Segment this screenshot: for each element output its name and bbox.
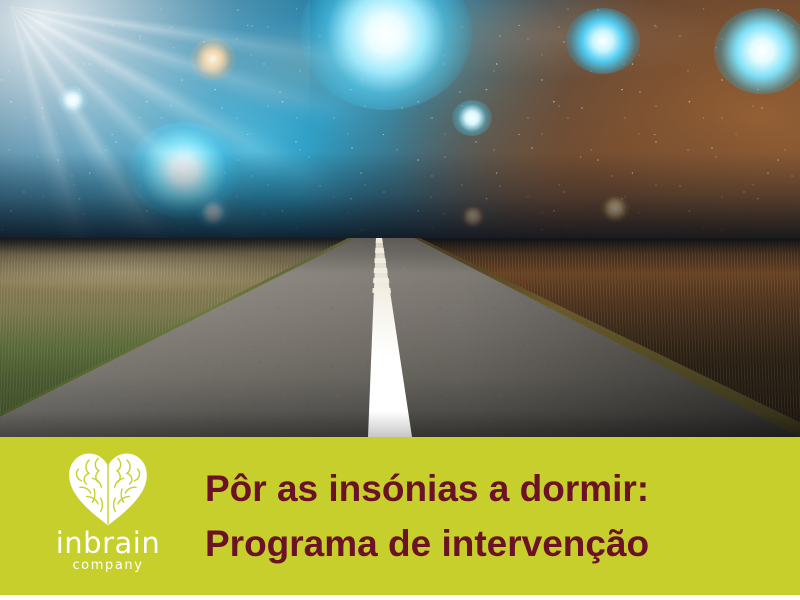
hero-photo <box>0 0 800 437</box>
title-line-2: Programa de intervenção <box>205 518 785 571</box>
page-title: Pôr as insónias a dormir: Programa de in… <box>205 463 785 570</box>
title-slide: inbrain company Pôr as insónias a dormir… <box>0 0 800 600</box>
footer-strip <box>0 595 800 600</box>
horizon-shading <box>0 152 800 248</box>
title-line-1: Pôr as insónias a dormir: <box>205 463 785 516</box>
logo-tagline: company <box>72 559 143 572</box>
title-banner: inbrain company Pôr as insónias a dormir… <box>0 437 800 595</box>
night-sky <box>0 0 800 248</box>
heart-brain-icon <box>66 451 150 527</box>
logo-wordmark: inbrain <box>56 529 160 558</box>
brand-logo: inbrain company <box>38 451 178 581</box>
photo-bottom-fade <box>0 411 800 437</box>
